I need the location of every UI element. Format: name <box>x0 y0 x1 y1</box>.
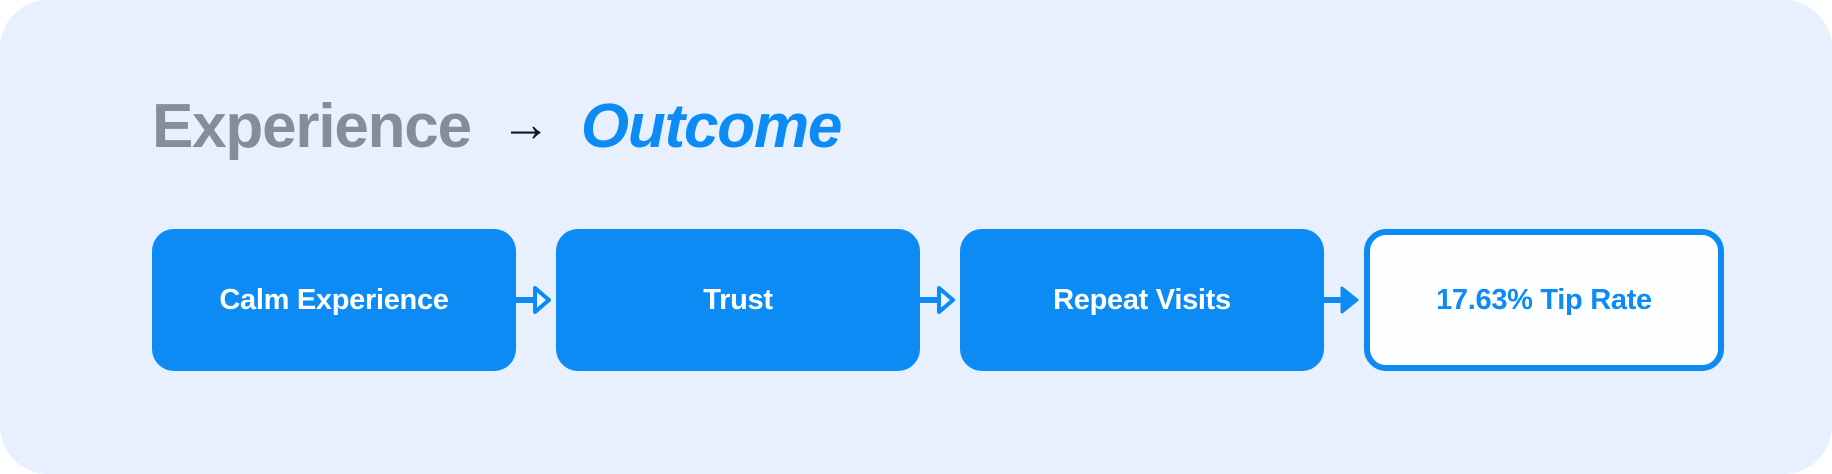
flow-step-calm-experience[interactable]: Calm Experience <box>152 229 516 371</box>
flow-step-trust[interactable]: Trust <box>556 229 920 371</box>
page-title: Experience → Outcome <box>152 84 841 170</box>
connector-arrow-right-icon-2 <box>920 277 960 323</box>
flow-card: Experience → Outcome Calm Experience Tru… <box>0 0 1832 474</box>
flow-step-label: 17.63% Tip Rate <box>1436 286 1652 315</box>
connector-arrow-right-icon-3 <box>1324 277 1364 323</box>
connector-arrow-right-icon-1 <box>516 277 556 323</box>
flow-step-tip-rate[interactable]: 17.63% Tip Rate <box>1364 229 1724 371</box>
flow-step-label: Trust <box>703 286 772 315</box>
flow-step-repeat-visits[interactable]: Repeat Visits <box>960 229 1324 371</box>
heading-to-label: Outcome <box>581 96 841 158</box>
arrow-right-icon: → <box>501 99 551 149</box>
flow-steps: Calm Experience Trust Repeat Visits 17.6… <box>152 229 1724 371</box>
heading-from-label: Experience <box>152 96 471 158</box>
flow-step-label: Repeat Visits <box>1053 286 1231 315</box>
flow-step-label: Calm Experience <box>219 286 448 315</box>
